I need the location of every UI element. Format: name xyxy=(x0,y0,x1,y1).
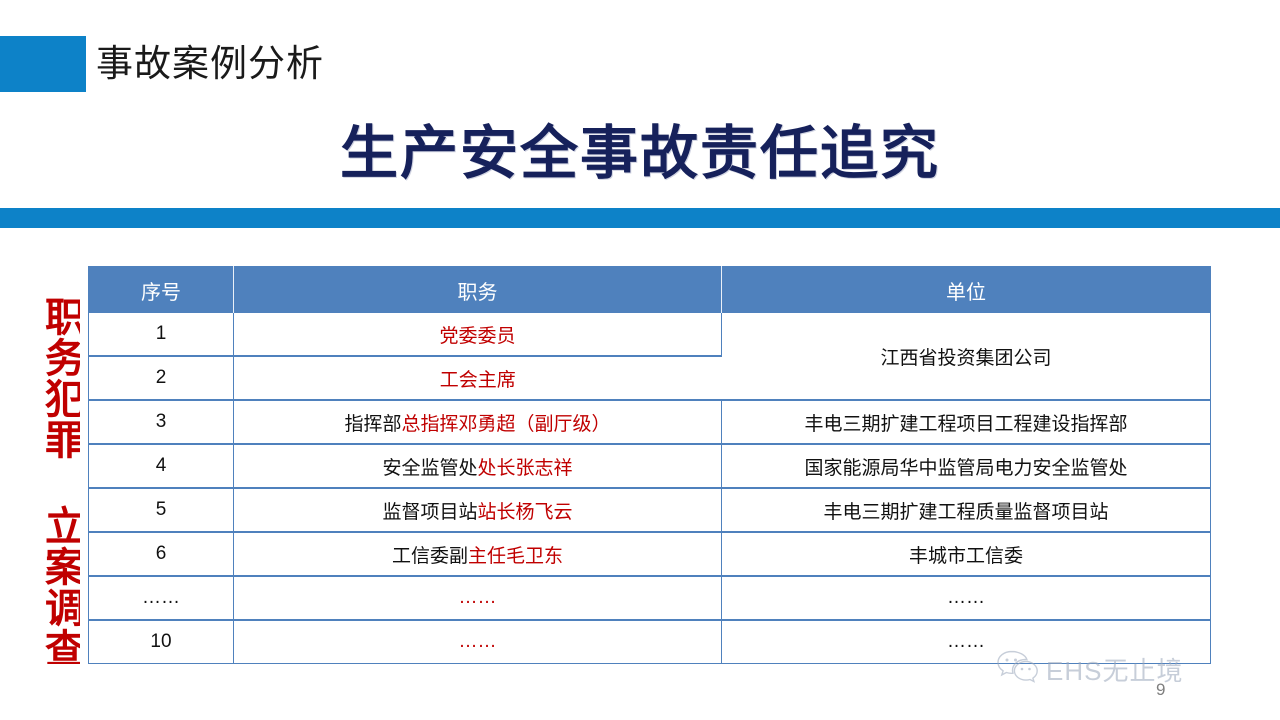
table-header-row: 序号 职务 单位 xyxy=(89,267,1211,314)
cell-unit: 江西省投资集团公司 xyxy=(722,313,1211,400)
cell-position: 工会主席 xyxy=(234,356,722,400)
position-org: 安全监管处 xyxy=(382,458,477,479)
position-name: 主任毛卫东 xyxy=(468,546,563,567)
table-row: 3指挥部总指挥邓勇超（副厅级）丰电三期扩建工程项目工程建设指挥部 xyxy=(89,400,1211,444)
position-org: 工信委副 xyxy=(392,546,468,567)
cell-index: 2 xyxy=(89,356,234,400)
column-header-index: 序号 xyxy=(89,267,234,314)
cell-index: 6 xyxy=(89,532,234,576)
cell-position: …… xyxy=(234,620,722,664)
cell-position: …… xyxy=(234,576,722,620)
column-header-unit: 单位 xyxy=(722,267,1211,314)
cell-index: 3 xyxy=(89,400,234,444)
table-row: 6工信委副主任毛卫东丰城市工信委 xyxy=(89,532,1211,576)
cell-unit: 国家能源局华中监管局电力安全监管处 xyxy=(722,444,1211,488)
cell-unit: 丰电三期扩建工程项目工程建设指挥部 xyxy=(722,400,1211,444)
column-header-position: 职务 xyxy=(234,267,722,314)
responsibility-table: 序号 职务 单位 1党委委员江西省投资集团公司2工会主席3指挥部总指挥邓勇超（副… xyxy=(88,266,1211,664)
cell-position: 工信委副主任毛卫东 xyxy=(234,532,722,576)
cell-index: 5 xyxy=(89,488,234,532)
cell-unit: …… xyxy=(722,620,1211,664)
table-body: 1党委委员江西省投资集团公司2工会主席3指挥部总指挥邓勇超（副厅级）丰电三期扩建… xyxy=(89,313,1211,664)
cell-unit: …… xyxy=(722,576,1211,620)
position-name: …… xyxy=(459,587,497,608)
cell-position: 指挥部总指挥邓勇超（副厅级） xyxy=(234,400,722,444)
page-number: 9 xyxy=(1156,680,1165,700)
cell-unit: 丰电三期扩建工程质量监督项目站 xyxy=(722,488,1211,532)
cell-index: 1 xyxy=(89,313,234,356)
responsibility-table-wrapper: 序号 职务 单位 1党委委员江西省投资集团公司2工会主席3指挥部总指挥邓勇超（副… xyxy=(88,266,1210,658)
table-row: 5监督项目站站长杨飞云丰电三期扩建工程质量监督项目站 xyxy=(89,488,1211,532)
position-name: 总指挥邓勇超（副厅级） xyxy=(402,414,611,435)
vertical-side-label: 职务犯罪 立案调查 xyxy=(26,296,80,664)
cell-position: 监督项目站站长杨飞云 xyxy=(234,488,722,532)
header-accent-block xyxy=(0,36,86,92)
table-row: 1党委委员江西省投资集团公司 xyxy=(89,313,1211,356)
page-subtitle: 事故案例分析 xyxy=(96,36,324,92)
page-title: 生产安全事故责任追究 xyxy=(0,106,1280,190)
position-name: 站长杨飞云 xyxy=(478,502,573,523)
position-org: 指挥部 xyxy=(344,414,401,435)
position-name: …… xyxy=(459,631,497,652)
cell-unit: 丰城市工信委 xyxy=(722,532,1211,576)
cell-position: 安全监管处处长张志祥 xyxy=(234,444,722,488)
cell-index: …… xyxy=(89,576,234,620)
divider-band xyxy=(0,208,1280,228)
cell-index: 4 xyxy=(89,444,234,488)
position-org: 监督项目站 xyxy=(382,502,477,523)
position-name: 工会主席 xyxy=(440,370,516,391)
table-row: 10………… xyxy=(89,620,1211,664)
table-row: 4安全监管处处长张志祥国家能源局华中监管局电力安全监管处 xyxy=(89,444,1211,488)
table-header: 序号 职务 单位 xyxy=(89,267,1211,314)
position-name: 党委委员 xyxy=(439,326,515,347)
table-row: ……………… xyxy=(89,576,1211,620)
cell-index: 10 xyxy=(89,620,234,664)
cell-position: 党委委员 xyxy=(234,313,722,356)
position-name: 处长张志祥 xyxy=(478,458,573,479)
